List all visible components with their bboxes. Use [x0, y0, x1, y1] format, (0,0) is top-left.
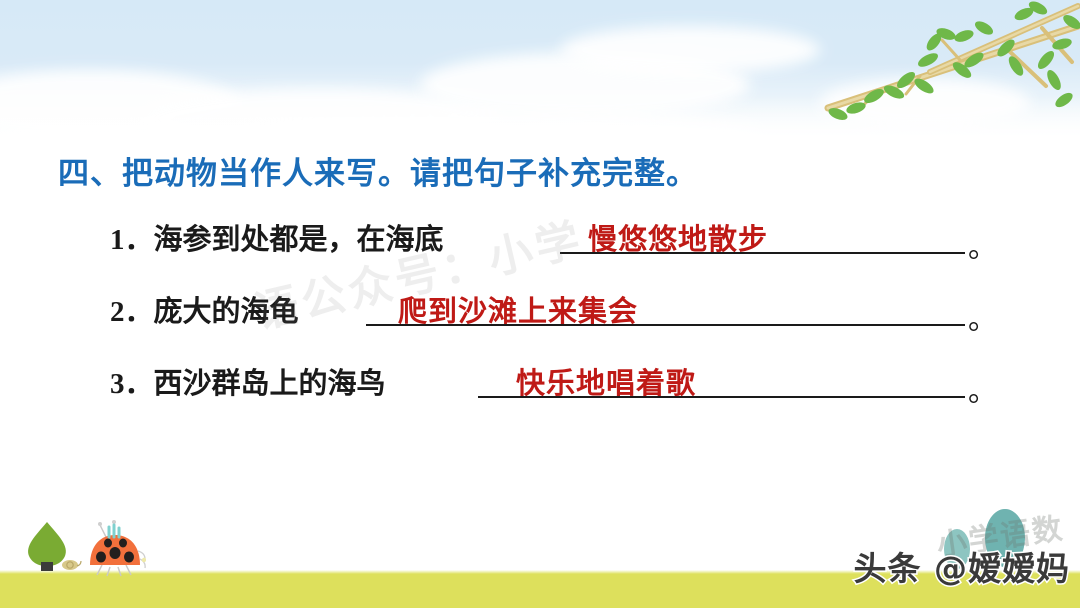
- question-stem: 庞大的海龟: [154, 294, 299, 328]
- question-line: 2．庞大的海龟: [110, 288, 299, 330]
- question-stem: 西沙群岛上的海鸟: [154, 366, 386, 400]
- cloud-shape: [560, 26, 820, 74]
- answer-blank-rule[interactable]: [366, 324, 965, 326]
- answer-blank-rule[interactable]: [560, 252, 965, 254]
- sentence-period: 。: [968, 224, 997, 266]
- snail-icon: [61, 557, 83, 576]
- sentence-period: 。: [968, 296, 997, 338]
- slide-canvas: 四、把动物当作人来写。请把句子补充完整。 1．海参到处都是，在海底 慢悠悠地散步…: [0, 0, 1080, 608]
- question-number: 2．: [110, 296, 154, 328]
- bush-icon: [942, 528, 972, 575]
- ladybug-icon: [84, 515, 146, 582]
- grass-strip: [0, 574, 1080, 608]
- sentence-period: 。: [968, 368, 997, 410]
- question-number: 1．: [110, 224, 154, 256]
- tree-branch-icon: [810, 0, 1080, 135]
- question-number: 3．: [110, 368, 154, 400]
- question-stem: 海参到处都是，在海底: [154, 222, 444, 256]
- question-line: 1．海参到处都是，在海底: [110, 216, 444, 258]
- section-heading: 四、把动物当作人来写。请把句子补充完整。: [58, 148, 698, 193]
- answer-blank-rule[interactable]: [478, 396, 965, 398]
- bush-icon: [982, 508, 1028, 575]
- question-line: 3．西沙群岛上的海鸟: [110, 360, 386, 402]
